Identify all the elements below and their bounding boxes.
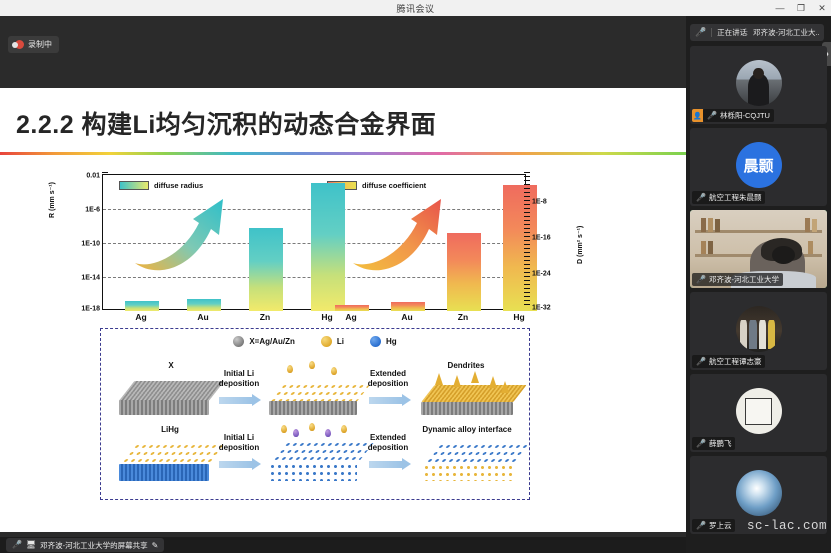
avatar-initials: 晨颢 bbox=[736, 142, 782, 188]
row2-hg-droplet-2-icon bbox=[325, 429, 331, 437]
dendrite-spike-4-icon bbox=[489, 376, 497, 388]
row1-step1-label: Initial Li deposition bbox=[211, 369, 267, 389]
participant-tile-2[interactable]: 晨颢 🎤 航空工程朱晨颢 bbox=[690, 128, 827, 206]
bottom-status-bar: 🎤 🖥 邓齐波-河北工业大学的屏幕共享 ✎ bbox=[0, 537, 686, 553]
share-status-label: 邓齐波-河北工业大学的屏幕共享 bbox=[40, 540, 148, 551]
x-label-radius-Au: Au bbox=[197, 312, 208, 322]
row2-li-droplet-1-icon bbox=[281, 425, 287, 433]
y-tick-left-3: 1E-14 bbox=[81, 275, 100, 282]
schematic-legend: X=Ag/Au/Zn Li Hg bbox=[101, 336, 529, 347]
avatar bbox=[736, 306, 782, 352]
right-y-axis-label: D (mm² s⁻¹) bbox=[576, 226, 584, 264]
row2-step1-label: Initial Li deposition bbox=[211, 433, 267, 453]
participant-name-bar-4: 🎤 航空工程谭志豪 bbox=[692, 355, 765, 368]
participant-tiles: 👤 🎤 林栎阳-CQJTU 晨颢 🎤 航空工程朱晨颢 bbox=[690, 46, 827, 538]
row2-arrow-1-icon bbox=[219, 461, 253, 468]
row1-slab-dendrites bbox=[421, 385, 513, 415]
screen-share-status[interactable]: 🎤 🖥 邓齐波-河北工业大学的屏幕共享 ✎ bbox=[6, 538, 164, 552]
diffusion-chart: 0.01 1E-6 1E-10 1E-14 1E-18 R (mm s⁻¹) bbox=[66, 172, 566, 332]
participant-name-bar-1: 🎤 林栎阳-CQJTU bbox=[703, 109, 774, 122]
participant-tile-1[interactable]: 👤 🎤 林栎阳-CQJTU bbox=[690, 46, 827, 124]
trend-arrow-coefficient-icon bbox=[349, 193, 459, 275]
row2-slab-mixed bbox=[269, 441, 357, 481]
participant-name-bar-2: 🎤 航空工程朱晨颢 bbox=[692, 191, 765, 204]
recording-badge: 录制中 bbox=[8, 36, 59, 53]
y-tick-left-4: 1E-18 bbox=[81, 306, 100, 313]
row1-li-droplet-2-icon bbox=[309, 361, 315, 369]
row2-end-label: Dynamic alloy interface bbox=[415, 425, 519, 435]
mic-muted-icon: 🎤 bbox=[696, 440, 706, 448]
speaking-banner: 🎤 正在讲话: 邓齐波-河北工业大... bbox=[690, 24, 824, 41]
row1-slab-X bbox=[119, 381, 209, 415]
row1-end-label: Dendrites bbox=[421, 361, 511, 371]
x-label-coef-Ag: Ag bbox=[345, 312, 356, 322]
mic-icon[interactable]: 🎤 bbox=[12, 541, 22, 549]
mic-muted-icon: 🎤 bbox=[696, 358, 706, 366]
avatar bbox=[736, 60, 782, 106]
record-icon bbox=[15, 40, 24, 49]
x-label-coef-Au: Au bbox=[401, 312, 412, 322]
mic-muted-icon: 🎤 bbox=[695, 27, 706, 38]
minimize-icon[interactable]: — bbox=[775, 4, 785, 13]
y-tick-left-2: 1E-10 bbox=[81, 241, 100, 248]
participant-name-bar-5: 🎤 薛鹏飞 bbox=[692, 437, 735, 450]
avatar bbox=[736, 388, 782, 434]
participant-sidebar: 🎤 正在讲话: 邓齐波-河北工业大... ❯ 👤 🎤 林栎阳-CQJTU 晨颢 bbox=[686, 16, 831, 553]
recording-label: 录制中 bbox=[28, 39, 52, 50]
window-title-bar: 腾讯会议 — ❐ ✕ bbox=[0, 0, 831, 16]
speaking-prefix: 正在讲话: bbox=[717, 27, 748, 38]
y-tick-right-3: 1E-32 bbox=[532, 305, 551, 312]
y-tick-right-2: 1E-24 bbox=[532, 271, 551, 278]
maximize-icon[interactable]: ❐ bbox=[796, 4, 806, 13]
row1-slab-Li-deposited bbox=[269, 383, 357, 415]
x-label-radius-Hg: Hg bbox=[321, 312, 332, 322]
mic-muted-icon: 🎤 bbox=[707, 112, 717, 120]
participant-name-2: 航空工程朱晨颢 bbox=[709, 192, 762, 203]
participant-name-6: 罗上云 bbox=[709, 520, 732, 531]
row2-slab-dynamic-alloy bbox=[423, 443, 513, 481]
gold-sphere-icon bbox=[321, 336, 332, 347]
left-y-axis-label: R (mm s⁻¹) bbox=[48, 182, 56, 218]
bar-coef-Au bbox=[391, 302, 425, 311]
participant-tile-4[interactable]: 🎤 航空工程谭志豪 bbox=[690, 292, 827, 370]
pencil-icon[interactable]: ✎ bbox=[152, 541, 159, 550]
bar-coef-Ag bbox=[335, 305, 369, 311]
legend-text-Hg: Hg bbox=[386, 337, 397, 346]
window-title: 腾讯会议 bbox=[396, 2, 434, 15]
presentation-slide: 2.2.2 构建Li均匀沉积的动态合金界面 0.01 1E-6 1E-10 1E… bbox=[0, 88, 686, 532]
mic-muted-icon: 🎤 bbox=[696, 522, 706, 530]
mic-muted-icon: 🎤 bbox=[696, 194, 706, 202]
row2-arrow-2-icon bbox=[369, 461, 403, 468]
row2-step2-label: Extended deposition bbox=[359, 433, 417, 453]
window-controls: — ❐ ✕ bbox=[775, 0, 827, 16]
slide-title: 2.2.2 构建Li均匀沉积的动态合金界面 bbox=[16, 105, 436, 141]
row2-li-droplet-3-icon bbox=[341, 425, 347, 433]
legend-text-Li: Li bbox=[337, 337, 344, 346]
trend-arrow-radius-icon bbox=[131, 193, 241, 275]
legend-text-X: X=Ag/Au/Zn bbox=[249, 337, 295, 346]
row2-hg-droplet-1-icon bbox=[293, 429, 299, 437]
participant-name-3: 邓齐波-河北工业大学 bbox=[709, 274, 779, 285]
participant-name-4: 航空工程谭志豪 bbox=[709, 356, 762, 367]
row2-li-droplet-2-icon bbox=[309, 423, 315, 431]
blue-sphere-icon bbox=[370, 336, 381, 347]
left-y-axis: 0.01 1E-6 1E-10 1E-14 1E-18 R (mm s⁻¹) bbox=[66, 172, 102, 312]
dendrite-spike-2-icon bbox=[453, 375, 461, 387]
participant-name-5: 薛鹏飞 bbox=[709, 438, 732, 449]
x-label-radius-Zn: Zn bbox=[260, 312, 270, 322]
host-badge-icon: 👤 bbox=[692, 109, 703, 122]
legend-item-Hg: Hg bbox=[370, 336, 397, 347]
dendrite-spike-1-icon bbox=[435, 373, 443, 385]
row1-step2-label: Extended deposition bbox=[359, 369, 417, 389]
close-icon[interactable]: ✕ bbox=[817, 4, 827, 13]
tencent-meeting-window: 腾讯会议 — ❐ ✕ 录制中 2.2.2 构建Li均匀沉积的动态合金界面 0.0… bbox=[0, 0, 831, 553]
participant-name-1: 林栎阳-CQJTU bbox=[720, 110, 770, 121]
dendrite-spike-3-icon bbox=[471, 371, 479, 383]
row2-slab-LiHg bbox=[119, 443, 209, 481]
legend-item-Li: Li bbox=[321, 336, 344, 347]
speaking-name: 邓齐波-河北工业大... bbox=[753, 27, 819, 38]
mic-icon: 🎤 bbox=[696, 276, 706, 284]
participant-name-bar-6: 🎤 罗上云 bbox=[692, 519, 735, 532]
row1-arrow-2-icon bbox=[369, 397, 403, 404]
row1-li-droplet-3-icon bbox=[331, 367, 337, 375]
row1-start-label: X bbox=[151, 361, 191, 371]
participant-name-bar-3: 🎤 邓齐波-河北工业大学 bbox=[692, 273, 783, 286]
participant-tile-5[interactable]: 🎤 薛鹏飞 bbox=[690, 374, 827, 452]
y-tick-left-1: 1E-6 bbox=[85, 207, 100, 214]
chart-plot-area: diffuse radius diffuse coefficient bbox=[102, 174, 526, 310]
shared-screen-area: 录制中 2.2.2 构建Li均匀沉积的动态合金界面 0.01 1E-6 1E-1… bbox=[0, 16, 686, 537]
x-label-coef-Zn: Zn bbox=[458, 312, 468, 322]
monitor-icon[interactable]: 🖥 bbox=[26, 541, 36, 549]
row2-start-label: LiHg bbox=[145, 425, 195, 435]
participant-tile-3[interactable]: 🎤 邓齐波-河北工业大学 bbox=[690, 210, 827, 288]
row1-arrow-1-icon bbox=[219, 397, 253, 404]
rainbow-divider bbox=[0, 152, 686, 155]
x-label-coef-Hg: Hg bbox=[513, 312, 524, 322]
right-y-axis: 1E-8 1E-16 1E-24 1E-32 D (mm² s⁻¹) bbox=[528, 172, 588, 312]
y-tick-right-0: 1E-8 bbox=[532, 199, 547, 206]
x-label-radius-Ag: Ag bbox=[135, 312, 146, 322]
gray-sphere-icon bbox=[233, 336, 244, 347]
y-tick-right-1: 1E-16 bbox=[532, 235, 551, 242]
row1-li-droplet-1-icon bbox=[287, 365, 293, 373]
legend-item-X: X=Ag/Au/Zn bbox=[233, 336, 295, 347]
avatar: 晨颢 bbox=[736, 142, 782, 188]
avatar bbox=[736, 470, 782, 516]
deposition-schematic: X=Ag/Au/Zn Li Hg X bbox=[100, 328, 530, 500]
y-tick-left-0: 0.01 bbox=[86, 173, 100, 180]
dendrite-spike-5-icon bbox=[501, 381, 509, 393]
watermark: sc-lac.com bbox=[747, 519, 827, 533]
